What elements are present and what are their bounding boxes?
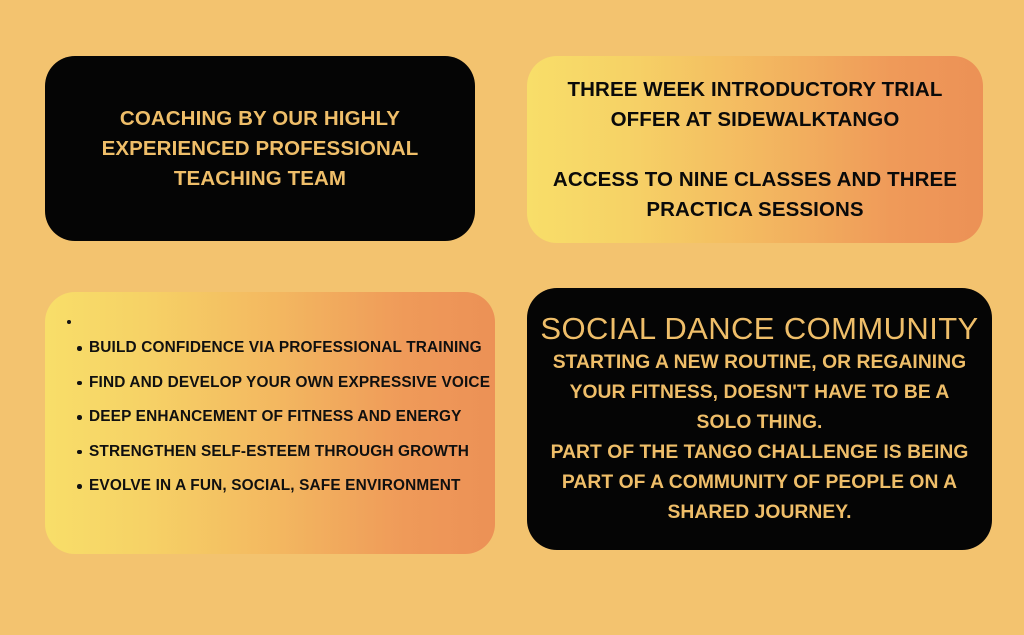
coaching-headline: COACHING BY OUR HIGHLY EXPERIENCED PROFE… — [84, 104, 437, 194]
list-item: EVOLVE IN A FUN, SOCIAL, SAFE ENVIRONMEN… — [55, 476, 479, 496]
promo-canvas: COACHING BY OUR HIGHLY EXPERIENCED PROFE… — [0, 0, 1024, 635]
lead-bullet-dot-icon — [67, 320, 71, 324]
community-body: STARTING A NEW ROUTINE, OR REGAINING YOU… — [551, 348, 969, 528]
community-title: SOCIAL DANCE COMMUNITY — [540, 311, 978, 347]
list-item: BUILD CONFIDENCE VIA PROFESSIONAL TRAINI… — [55, 338, 479, 358]
trial-access-detail: ACCESS TO NINE CLASSES AND THREE PRACTIC… — [553, 165, 957, 225]
list-item: DEEP ENHANCEMENT OF FITNESS AND ENERGY — [55, 407, 479, 427]
card-social-dance-community: SOCIAL DANCE COMMUNITY STARTING A NEW RO… — [527, 288, 992, 550]
trial-offer-headline: THREE WEEK INTRODUCTORY TRIAL OFFER AT S… — [568, 75, 943, 135]
card-benefits: BUILD CONFIDENCE VIA PROFESSIONAL TRAINI… — [45, 292, 495, 554]
card-trial-offer: THREE WEEK INTRODUCTORY TRIAL OFFER AT S… — [527, 56, 983, 243]
benefits-list: BUILD CONFIDENCE VIA PROFESSIONAL TRAINI… — [55, 338, 479, 496]
list-item: FIND AND DEVELOP YOUR OWN EXPRESSIVE VOI… — [55, 373, 479, 393]
list-item: STRENGTHEN SELF-ESTEEM THROUGH GROWTH — [55, 442, 479, 462]
card-coaching: COACHING BY OUR HIGHLY EXPERIENCED PROFE… — [45, 56, 475, 241]
